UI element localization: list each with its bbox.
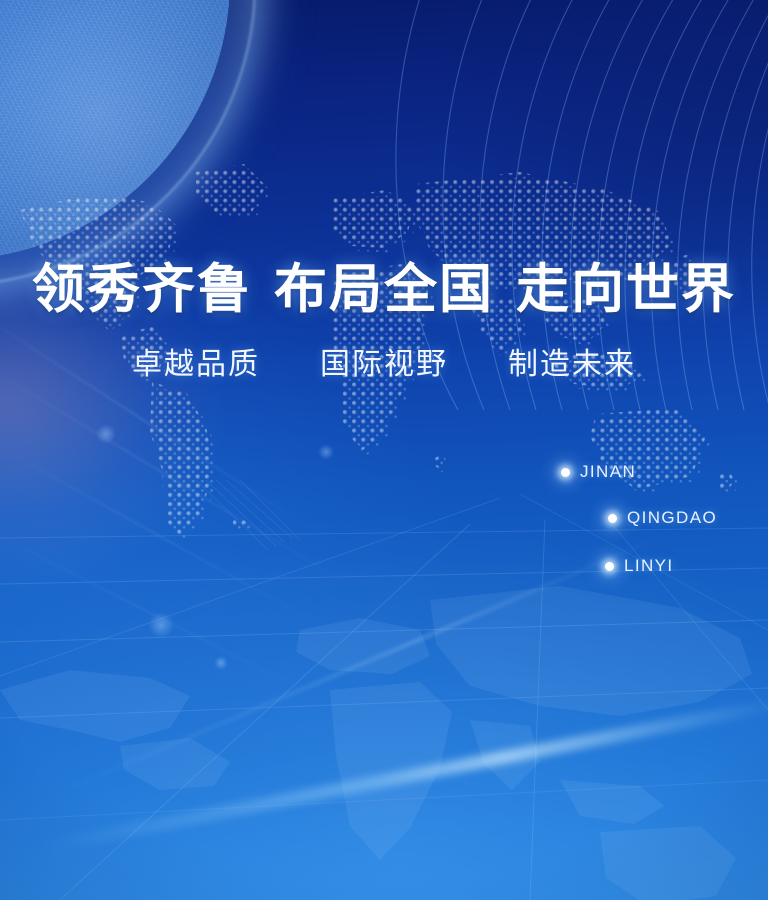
headline-segment-2: 布局全国 — [274, 258, 494, 320]
city-marker-qingdao[interactable]: QINGDAO — [608, 508, 717, 528]
subhead-segment-3: 制造未来 — [508, 347, 636, 382]
headline-segment-1: 领秀齐鲁 — [32, 258, 252, 320]
subhead-segment-2: 国际视野 — [320, 347, 448, 382]
page-subtitle: 卓越品质国际视野制造未来 — [0, 347, 768, 383]
city-label-qingdao: QINGDAO — [627, 508, 717, 528]
perspective-grid-graphic — [0, 480, 768, 900]
city-marker-dot-icon — [608, 514, 617, 523]
hero-banner: 领秀齐鲁布局全国走向世界 卓越品质国际视野制造未来 JINAN QINGDAO … — [0, 0, 768, 900]
subhead-segment-1: 卓越品质 — [132, 347, 260, 382]
city-label-jinan: JINAN — [580, 462, 636, 482]
city-marker-dot-icon — [605, 562, 614, 571]
city-marker-dot-icon — [561, 468, 570, 477]
city-marker-jinan[interactable]: JINAN — [561, 462, 636, 482]
headline-segment-3: 走向世界 — [516, 258, 736, 320]
hero-copy-block: 领秀齐鲁布局全国走向世界 卓越品质国际视野制造未来 — [0, 258, 768, 383]
city-marker-linyi[interactable]: LINYI — [605, 556, 674, 576]
page-title: 领秀齐鲁布局全国走向世界 — [0, 258, 768, 321]
city-label-linyi: LINYI — [624, 556, 674, 576]
